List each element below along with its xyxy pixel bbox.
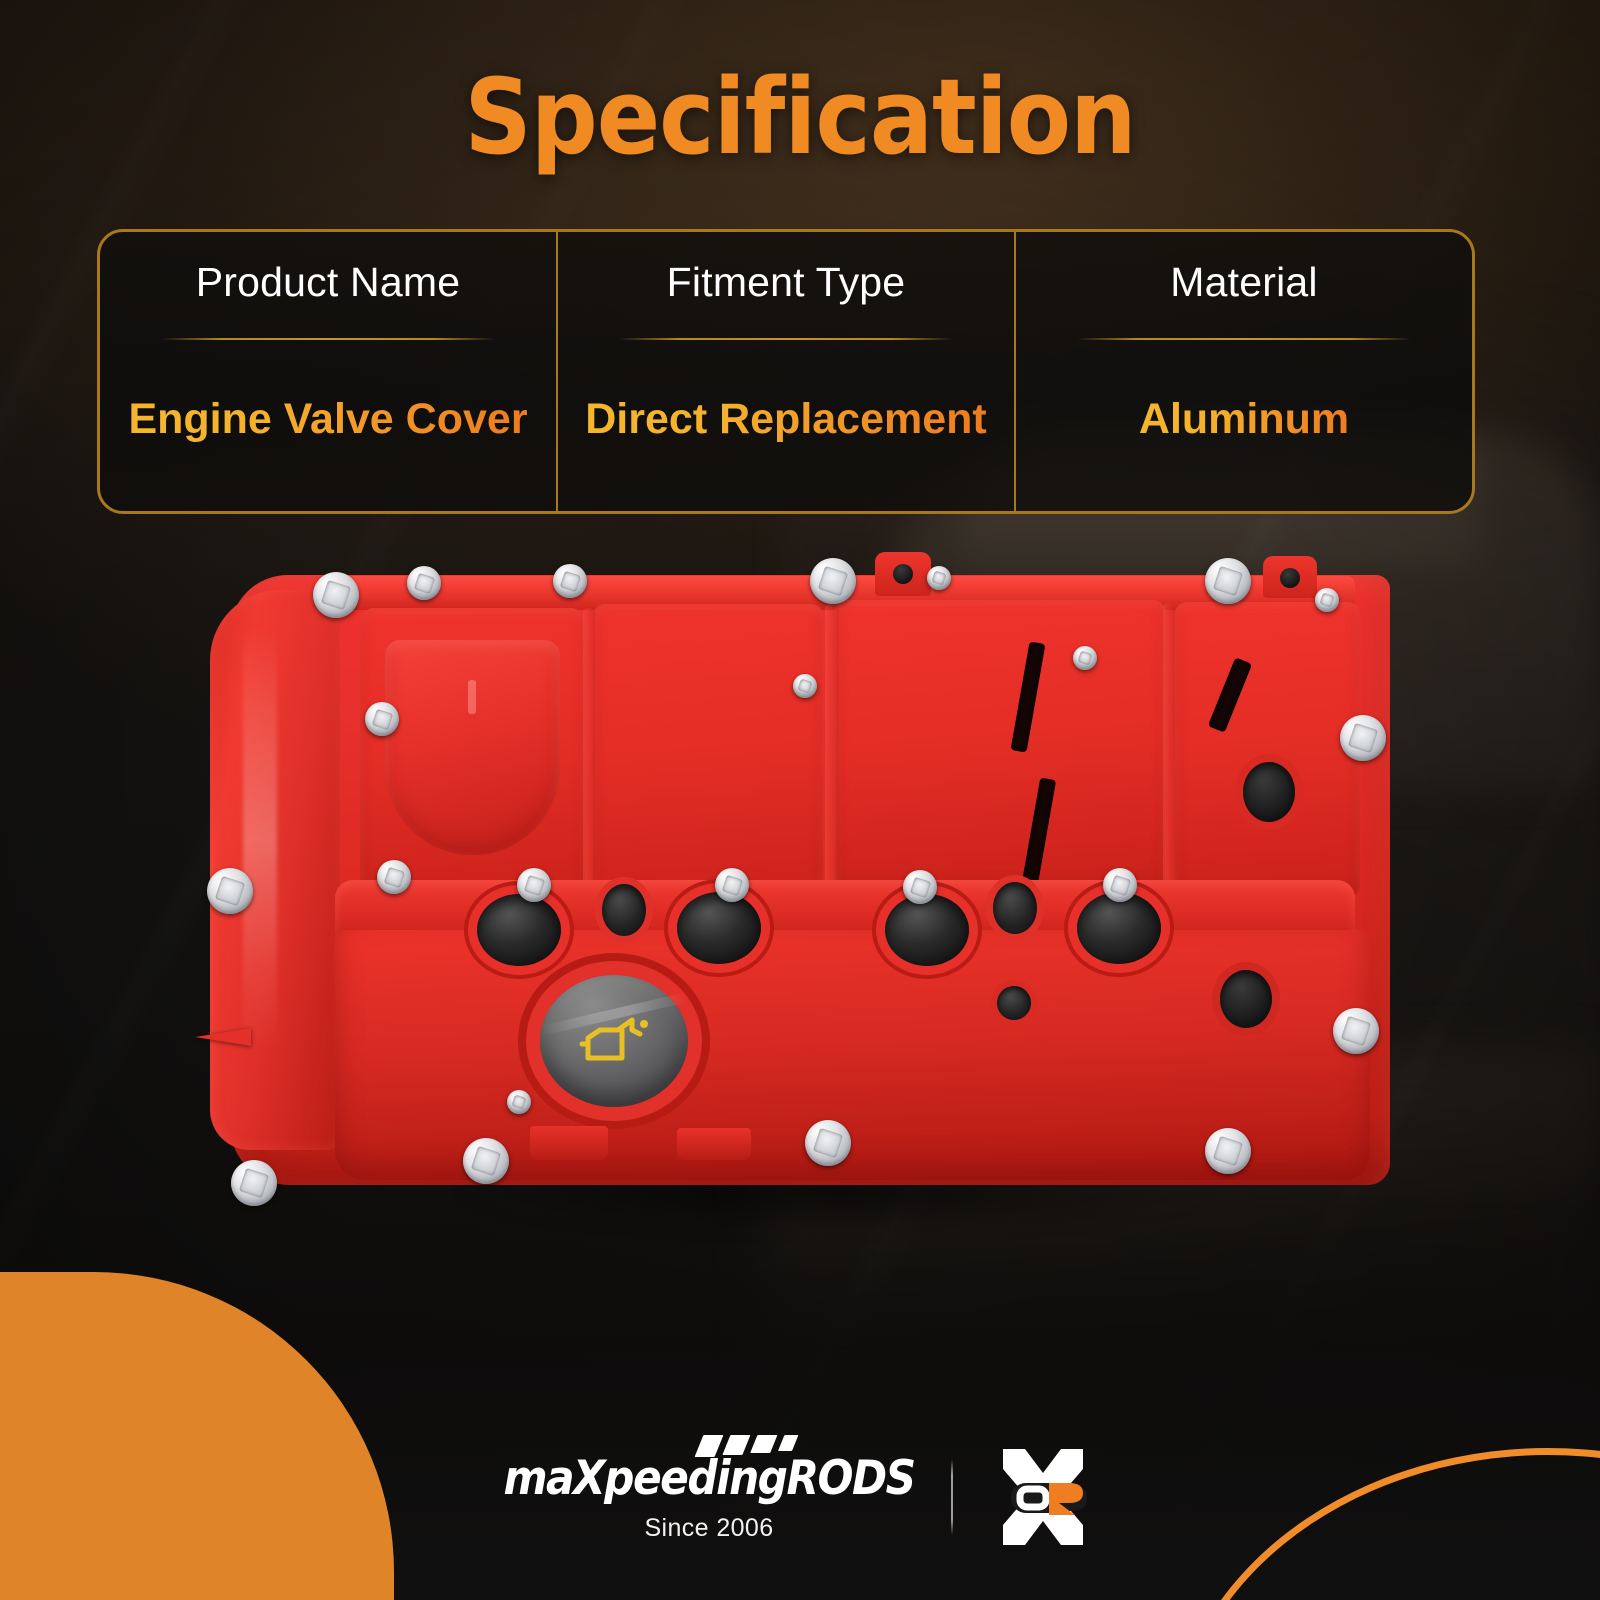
- page-title: Specification: [0, 56, 1600, 178]
- bolt: [313, 572, 359, 618]
- small-port-hole: [993, 882, 1037, 934]
- brand-prefix: ma: [503, 1451, 573, 1506]
- bolt: [903, 870, 937, 904]
- bolt: [207, 868, 253, 914]
- bolt: [1073, 646, 1097, 670]
- oil-filler-cap: [540, 975, 688, 1107]
- bolt: [1333, 1008, 1379, 1054]
- brand-wordmark-text: maXpeedingRODS: [503, 1455, 914, 1502]
- bolt: [517, 868, 551, 902]
- spec-divider: [1077, 338, 1411, 340]
- spec-column-product-name: Product Name Engine Valve Cover: [100, 232, 556, 511]
- valve-cover-panel: [835, 600, 1165, 890]
- spec-header-fitment-type: Fitment Type: [667, 258, 906, 316]
- bolt: [715, 868, 749, 902]
- bolt: [1315, 588, 1339, 612]
- side-port-hole: [1220, 970, 1272, 1028]
- valve-cover-highlight: [243, 625, 277, 1055]
- side-port-hole: [1243, 762, 1295, 822]
- spec-divider: [619, 338, 953, 340]
- small-port-hole: [997, 986, 1031, 1020]
- x-badge-icon: [989, 1443, 1097, 1551]
- brand-wordmark: maXpeedingRODS: [503, 1451, 914, 1505]
- spec-header-product-name: Product Name: [196, 258, 460, 316]
- bolt: [553, 564, 587, 598]
- bolt: [1340, 715, 1386, 761]
- or-badge-logo: OR: [989, 1443, 1097, 1551]
- valve-cover-rib: [825, 604, 839, 894]
- valve-cover-rib: [1163, 604, 1175, 889]
- specification-table: Product Name Engine Valve Cover Fitment …: [97, 229, 1475, 514]
- valve-cover-round-boss: [385, 640, 560, 855]
- spark-plug-hole: [477, 894, 561, 966]
- valve-cover-spike: [195, 1028, 251, 1046]
- spec-value-material: Aluminum: [1139, 354, 1349, 493]
- valve-cover-panel: [1175, 602, 1360, 897]
- bolt: [1103, 868, 1137, 902]
- valve-cover-mount-ear: [1263, 556, 1317, 598]
- valve-cover-rib: [583, 608, 595, 908]
- spec-divider: [161, 338, 495, 340]
- checkered-flag-icon: [695, 1435, 872, 1457]
- brand-x: X: [573, 1451, 604, 1506]
- brand-mid: peeding: [604, 1451, 786, 1506]
- bolt: [463, 1138, 509, 1184]
- spec-value-product-name: Engine Valve Cover: [128, 354, 527, 493]
- footer-divider: [951, 1459, 953, 1535]
- bolt: [793, 674, 817, 698]
- small-port-hole: [602, 884, 646, 936]
- valve-cover-panel: [593, 604, 823, 914]
- valve-cover-boss-notch: [468, 680, 476, 714]
- spec-column-fitment-type: Fitment Type Direct Replacement: [556, 232, 1014, 511]
- spec-column-material: Material Aluminum: [1014, 232, 1472, 511]
- bolt: [507, 1090, 531, 1114]
- valve-cover-mount-ear: [875, 552, 931, 596]
- bolt: [407, 566, 441, 600]
- spark-plug-hole: [885, 894, 969, 966]
- product-image-valve-cover: [185, 530, 1425, 1230]
- brand-tagline: Since 2006: [644, 1514, 773, 1543]
- bolt: [805, 1120, 851, 1166]
- product-spec-banner: Specification Product Name Engine Valve …: [0, 0, 1600, 1600]
- spark-plug-hole: [677, 892, 761, 964]
- bolt: [231, 1160, 277, 1206]
- bolt: [1205, 1128, 1251, 1174]
- oil-can-icon: [578, 1008, 652, 1070]
- bolt: [1205, 558, 1251, 604]
- spark-plug-hole: [1077, 892, 1161, 964]
- bolt: [927, 566, 951, 590]
- footer: maXpeedingRODS Since 2006 OR: [0, 1443, 1600, 1551]
- spec-header-material: Material: [1170, 258, 1317, 316]
- or-badge-letters: OR: [1097, 1443, 1098, 1444]
- brand-logo: maXpeedingRODS Since 2006: [503, 1451, 914, 1543]
- brand-suffix: RODS: [786, 1451, 914, 1506]
- valve-cover-tab: [677, 1128, 751, 1160]
- spec-value-fitment-type: Direct Replacement: [585, 354, 987, 493]
- bolt: [810, 558, 856, 604]
- valve-cover-tab: [530, 1126, 608, 1160]
- bolt: [365, 702, 399, 736]
- bolt: [377, 860, 411, 894]
